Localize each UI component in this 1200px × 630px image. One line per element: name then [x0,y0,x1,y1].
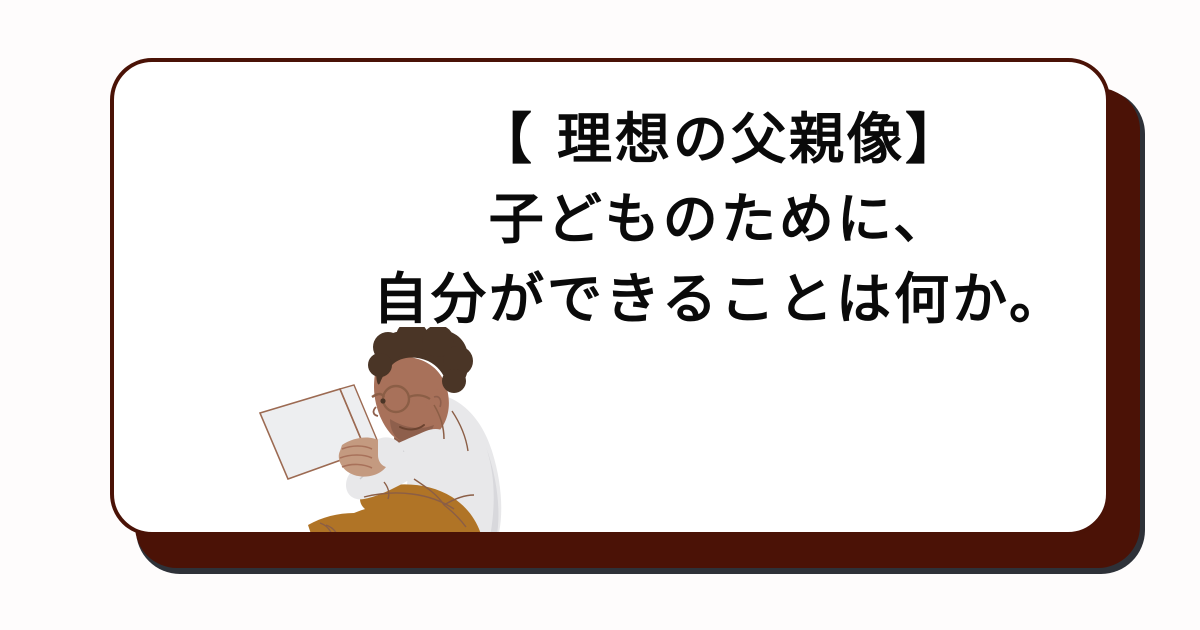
message-line-2: 子どものために、 [355,192,1085,247]
poster-canvas: 【 理想の父親像】 子どものために、 自分ができることは何か。 [0,0,1200,630]
hair-curl-5 [442,369,466,393]
hair-curl-6 [368,353,392,377]
eye-shape [380,398,385,403]
message-line-3: 自分ができることは何か。 [355,272,1085,327]
person-reading-book-illustration [254,327,524,536]
ear-shape [426,390,448,417]
message-text-block: 【 理想の父親像】 子どものために、 自分ができることは何か。 [355,112,1085,327]
leg-front-shade [312,533,395,536]
message-line-1: 【 理想の父親像】 [355,112,1085,167]
